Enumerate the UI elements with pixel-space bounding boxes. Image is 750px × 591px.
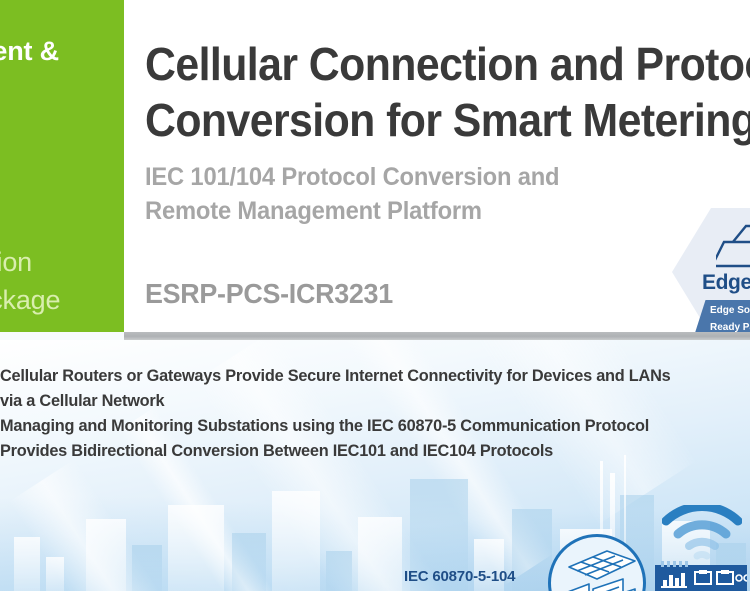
category-line-1: onment & [0,33,130,69]
category-panel: onment & gy Solution y Package [0,0,124,332]
page-subtitle-line-2: Remote Management Platform [145,194,750,228]
solution-tag-line-1: Solution [0,243,130,281]
edge-solution-badge: Edge-S Edge Soluti Ready Packa [672,208,750,336]
network-router-icon [655,561,747,591]
bullet-2-line-1: Managing and Monitoring Substations usin… [0,416,649,435]
stacked-parallelograms-icon [716,222,750,272]
bullet-3-line-1: Provides Bidirectional Conversion Betwee… [0,441,553,460]
iec-protocol-label: IEC 60870-5-104 [404,568,515,585]
badge-title: Edge-S [702,271,750,295]
bullet-1-line-2: via a Cellular Network [0,388,720,413]
page-subtitle: IEC 101/104 Protocol Conversion and Remo… [145,160,750,228]
category-line-2: gy [0,69,130,105]
product-code: ESRP-PCS-ICR3231 [145,278,393,310]
solution-tag: Solution y Package [0,243,130,319]
category-label: onment & gy [0,33,130,105]
list-item: Provides Bidirectional Conversion Betwee… [0,438,720,463]
page-title-line-2: Conversion for Smart Metering [145,92,750,148]
panel-foot-spacer [0,332,124,340]
bullet-1-line-1: Cellular Routers or Gateways Provide Sec… [0,366,670,385]
header-section: onment & gy Solution y Package Cellular … [0,0,750,332]
page-subtitle-line-1: IEC 101/104 Protocol Conversion and [145,160,750,194]
feature-bullet-list: Cellular Routers or Gateways Provide Sec… [0,363,750,463]
list-item: Cellular Routers or Gateways Provide Sec… [0,363,720,413]
page-title-line-1: Cellular Connection and Protoc [145,38,750,90]
header-divider-bar [124,332,750,340]
wifi-signal-icon [662,505,742,561]
list-item: Managing and Monitoring Substations usin… [0,413,720,438]
solution-tag-line-2: y Package [0,281,130,319]
page-title: Cellular Connection and Protoc Conversio… [145,36,750,148]
marketing-banner: onment & gy Solution y Package Cellular … [0,0,750,591]
